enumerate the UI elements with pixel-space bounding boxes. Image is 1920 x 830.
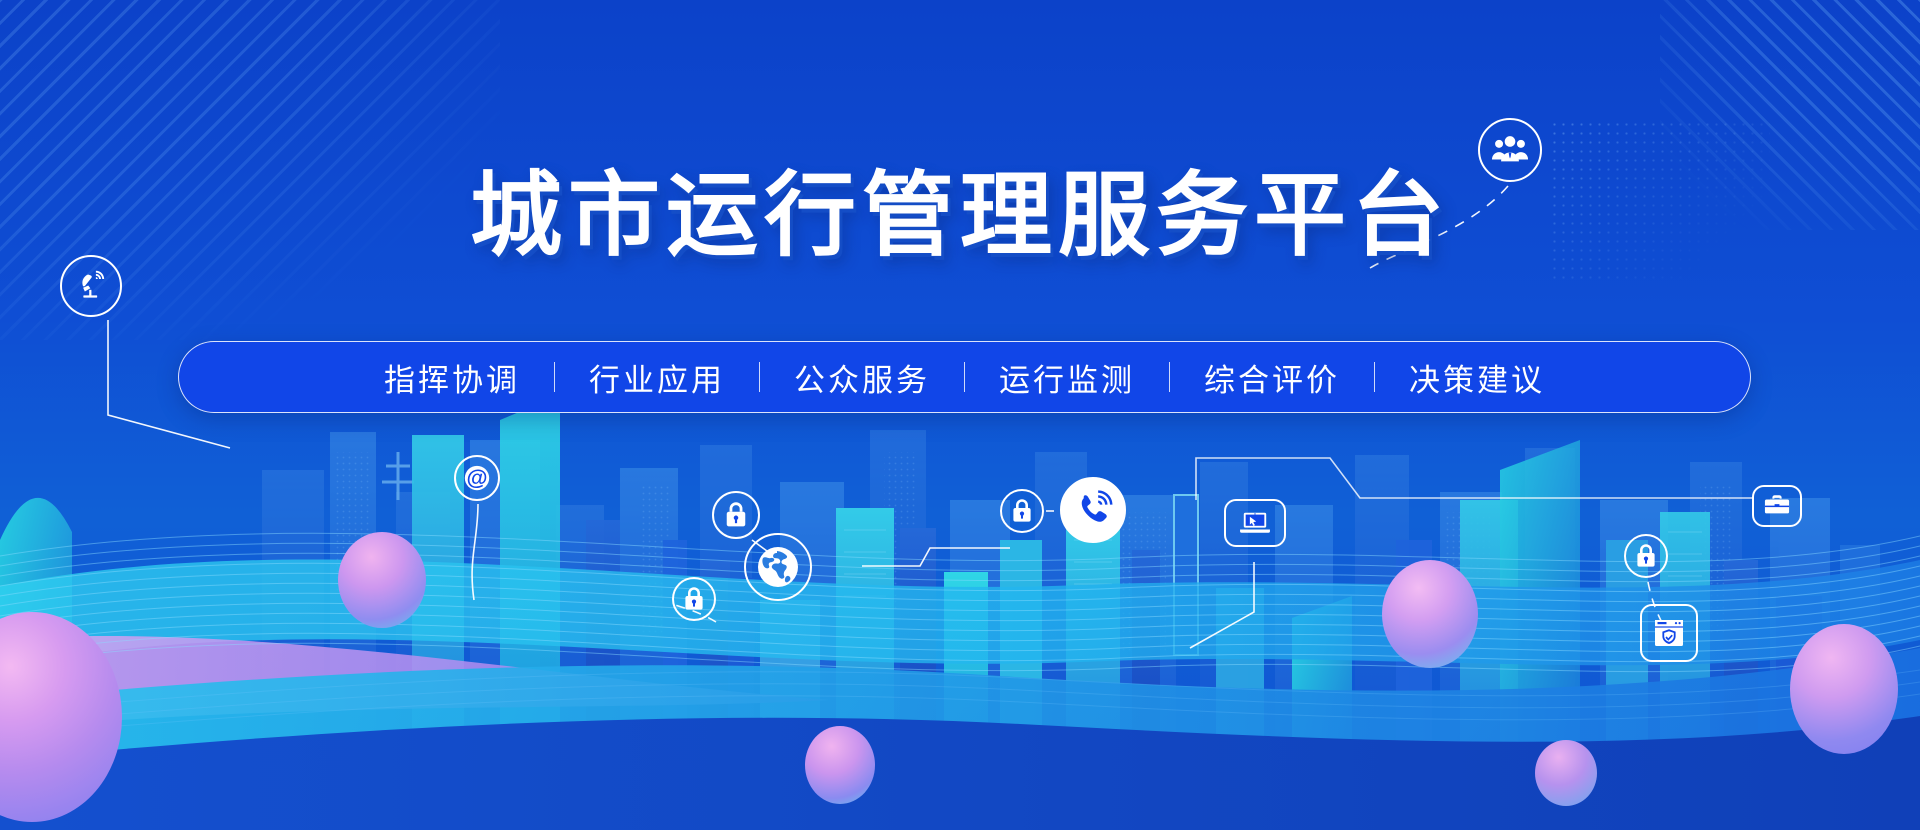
browser-shield-icon[interactable] (1640, 604, 1698, 662)
lock-icon-right[interactable] (1624, 534, 1668, 578)
nav-item-5[interactable]: 综合评价 (1170, 355, 1374, 400)
satellite-dish-icon[interactable] (60, 255, 122, 317)
at-sign-icon[interactable]: @ (454, 455, 500, 501)
lock-icon-lower-left[interactable] (672, 577, 716, 621)
phone-call-icon[interactable] (1060, 477, 1126, 543)
primary-nav-bar[interactable]: 指挥协调行业应用公众服务运行监测综合评价决策建议 (178, 341, 1751, 413)
banner-title-wrap: 城市运行管理服务平台 (0, 170, 1920, 262)
nav-item-2[interactable]: 行业应用 (555, 355, 759, 400)
briefcase-icon[interactable] (1752, 485, 1802, 527)
icon-connector-lines (0, 0, 1920, 830)
nav-item-3[interactable]: 公众服务 (760, 355, 964, 400)
lock-icon-center[interactable] (1000, 489, 1044, 533)
laptop-cursor-icon[interactable] (1224, 499, 1286, 547)
nav-item-4[interactable]: 运行监测 (965, 355, 1169, 400)
nav-item-6[interactable]: 决策建议 (1375, 355, 1579, 400)
city-operations-banner: @ (0, 0, 1920, 830)
nav-item-1[interactable]: 指挥协调 (350, 355, 554, 400)
globe-icon[interactable] (744, 533, 812, 601)
lock-icon-upper-left[interactable] (712, 491, 760, 539)
svg-text:@: @ (466, 465, 487, 490)
page-title: 城市运行管理服务平台 (470, 170, 1450, 262)
